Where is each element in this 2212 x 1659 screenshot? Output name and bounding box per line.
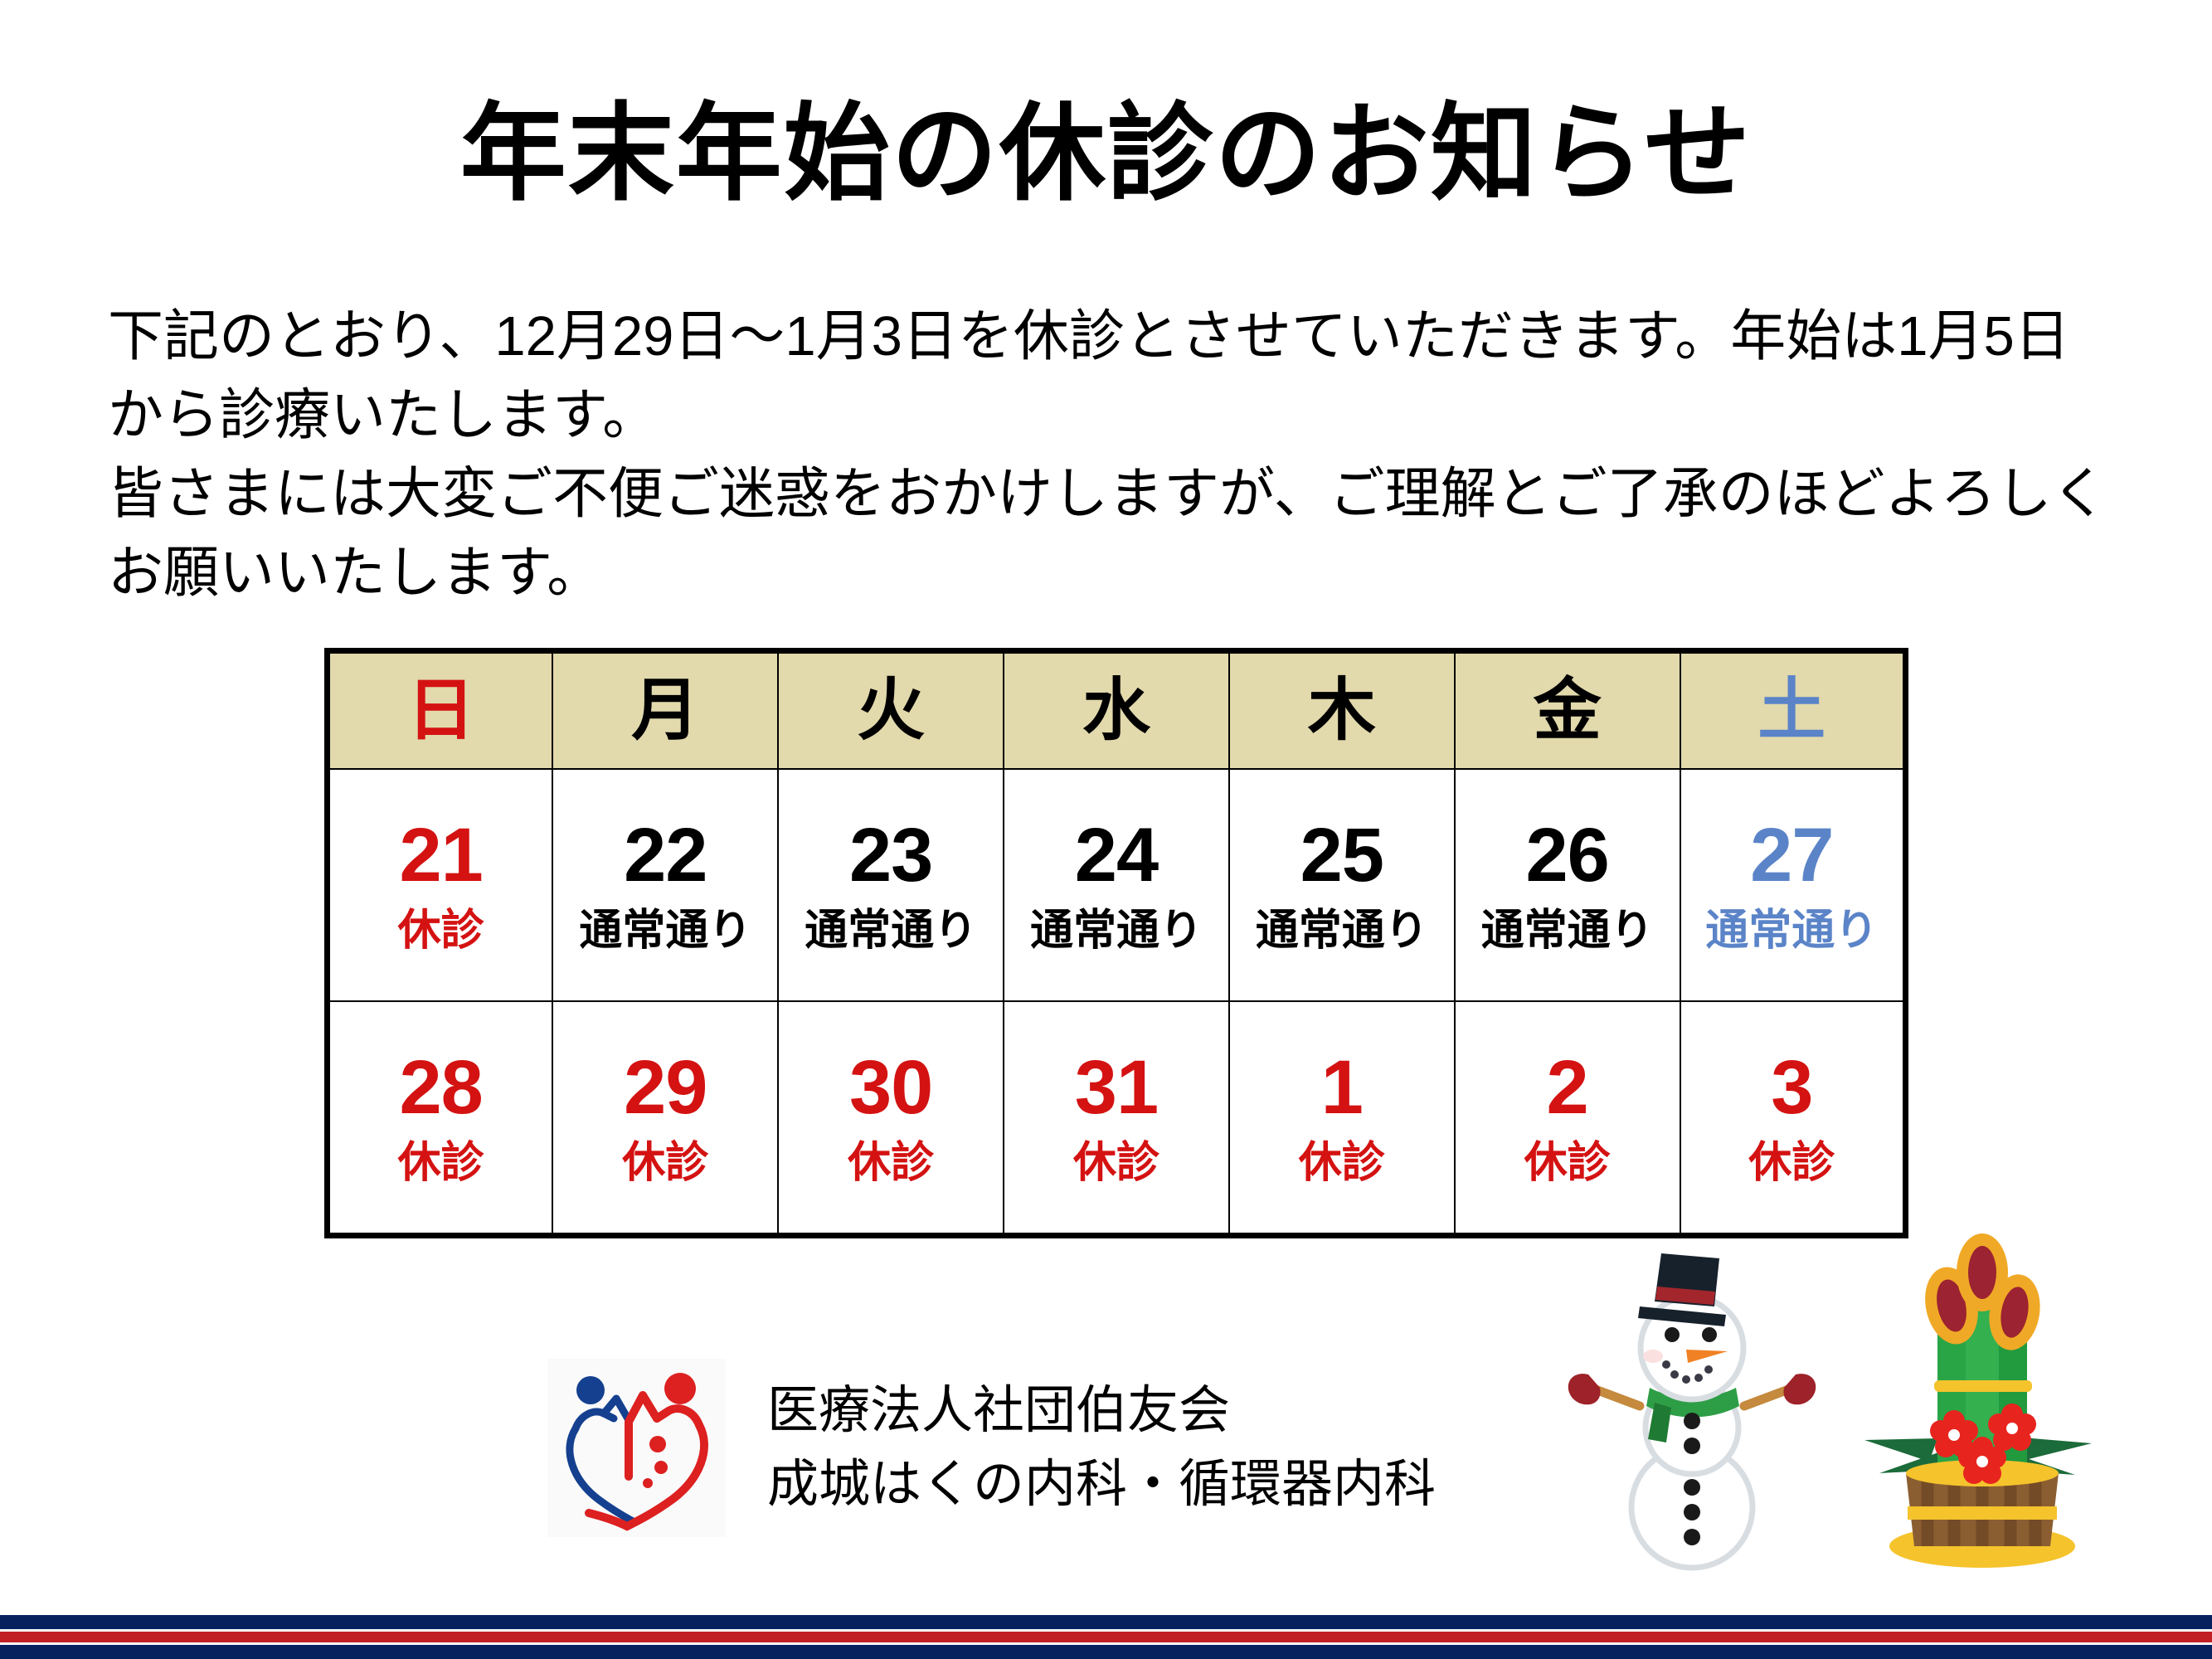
day-number: 27	[1750, 817, 1833, 895]
day-status: 通常通り	[579, 908, 751, 954]
notice-body-line-3: 皆さまには大変ご不便ご迷惑をおかけしますが、ご理解とご了承のほどよろしく	[108, 455, 2115, 533]
calendar-cell: 26 通常通り	[1455, 769, 1680, 1001]
footer-band-navy-bottom	[0, 1645, 2212, 1659]
snowman-icon	[1563, 1248, 1821, 1572]
day-status: 休診	[1073, 1141, 1159, 1186]
calendar-cell: 1 休診	[1229, 1001, 1455, 1236]
calendar-row: 21 休診 22 通常通り 23 通常通り 24 通常通り	[328, 769, 1906, 1001]
day-status: 通常通り	[1705, 908, 1878, 954]
day-status: 通常通り	[1481, 908, 1654, 954]
day-number: 29	[624, 1049, 707, 1127]
clinic-identity: 医療法人社団伯友会 成城はくの内科・循環器内科	[547, 1359, 1436, 1537]
kadomatsu-icon	[1858, 1229, 2107, 1569]
calendar-cell: 29 休診	[552, 1001, 778, 1236]
notice-body-line-1: 下記のとおり、12月29日～1月3日を休診とさせていただきます。年始は1月5日	[108, 297, 2115, 376]
day-number: 22	[624, 817, 707, 895]
notice-body-text: 下記のとおり、12月29日～1月3日を休診とさせていただきます。年始は1月5日 …	[108, 297, 2115, 613]
calendar-header-monday: 月	[552, 651, 778, 770]
day-number: 3	[1771, 1049, 1812, 1127]
day-number: 21	[400, 817, 483, 895]
day-number: 23	[849, 817, 932, 895]
clinic-name-block: 医療法人社団伯友会 成城はくの内科・循環器内科	[767, 1374, 1436, 1520]
calendar-header-wednesday: 水	[1004, 651, 1229, 770]
calendar-cell: 28 休診	[328, 1001, 553, 1236]
calendar-cell: 24 通常通り	[1004, 769, 1229, 1001]
day-status: 休診	[398, 908, 484, 954]
day-status: 通常通り	[1030, 908, 1203, 954]
day-number: 1	[1321, 1049, 1363, 1127]
day-status: 通常通り	[805, 908, 977, 954]
calendar-header-sunday: 日	[328, 651, 553, 770]
day-status: 休診	[622, 1141, 708, 1186]
day-number: 28	[400, 1049, 483, 1127]
calendar-header-saturday: 土	[1680, 651, 1906, 770]
calendar-cell: 3 休診	[1680, 1001, 1906, 1236]
calendar-header-friday: 金	[1455, 651, 1680, 770]
day-number: 25	[1300, 817, 1383, 895]
calendar-cell: 31 休診	[1004, 1001, 1229, 1236]
calendar-header-row: 日 月 火 水 木 金 土	[328, 651, 1906, 770]
calendar-cell: 21 休診	[328, 769, 553, 1001]
footer-band-navy-top	[0, 1615, 2212, 1629]
page-title: 年末年始の休診のお知らせ	[0, 93, 2212, 215]
heart-people-logo-icon	[547, 1359, 726, 1537]
calendar-header-thursday: 木	[1229, 651, 1455, 770]
day-status: 通常通り	[1256, 908, 1428, 954]
notice-body-line-4: お願いいたします。	[108, 533, 2115, 612]
day-status: 休診	[848, 1141, 934, 1186]
corporation-name: 医療法人社団伯友会	[767, 1374, 1436, 1447]
footer-stripe	[0, 1615, 2212, 1659]
holiday-calendar: 日 月 火 水 木 金 土 21 休診 22 通常通り	[324, 648, 1908, 1238]
clinic-name: 成城はくの内科・循環器内科	[767, 1448, 1436, 1521]
calendar-cell: 30 休診	[778, 1001, 1004, 1236]
day-number: 26	[1525, 817, 1608, 895]
day-status: 休診	[398, 1141, 484, 1186]
calendar-cell: 25 通常通り	[1229, 769, 1455, 1001]
day-number: 31	[1075, 1049, 1158, 1127]
footer-band-red	[0, 1632, 2212, 1642]
day-status: 休診	[1299, 1141, 1385, 1186]
calendar-header-tuesday: 火	[778, 651, 1004, 770]
calendar-cell: 23 通常通り	[778, 769, 1004, 1001]
calendar-cell: 2 休診	[1455, 1001, 1680, 1236]
day-number: 24	[1075, 817, 1158, 895]
calendar-row: 28 休診 29 休診 30 休診 31 休診	[328, 1001, 1906, 1236]
day-status: 休診	[1524, 1141, 1611, 1186]
notice-body-line-2: から診療いたします。	[108, 376, 2115, 455]
calendar-cell: 27 通常通り	[1680, 769, 1906, 1001]
calendar-cell: 22 通常通り	[552, 769, 778, 1001]
day-status: 休診	[1748, 1141, 1835, 1186]
day-number: 2	[1547, 1049, 1588, 1127]
day-number: 30	[849, 1049, 932, 1127]
